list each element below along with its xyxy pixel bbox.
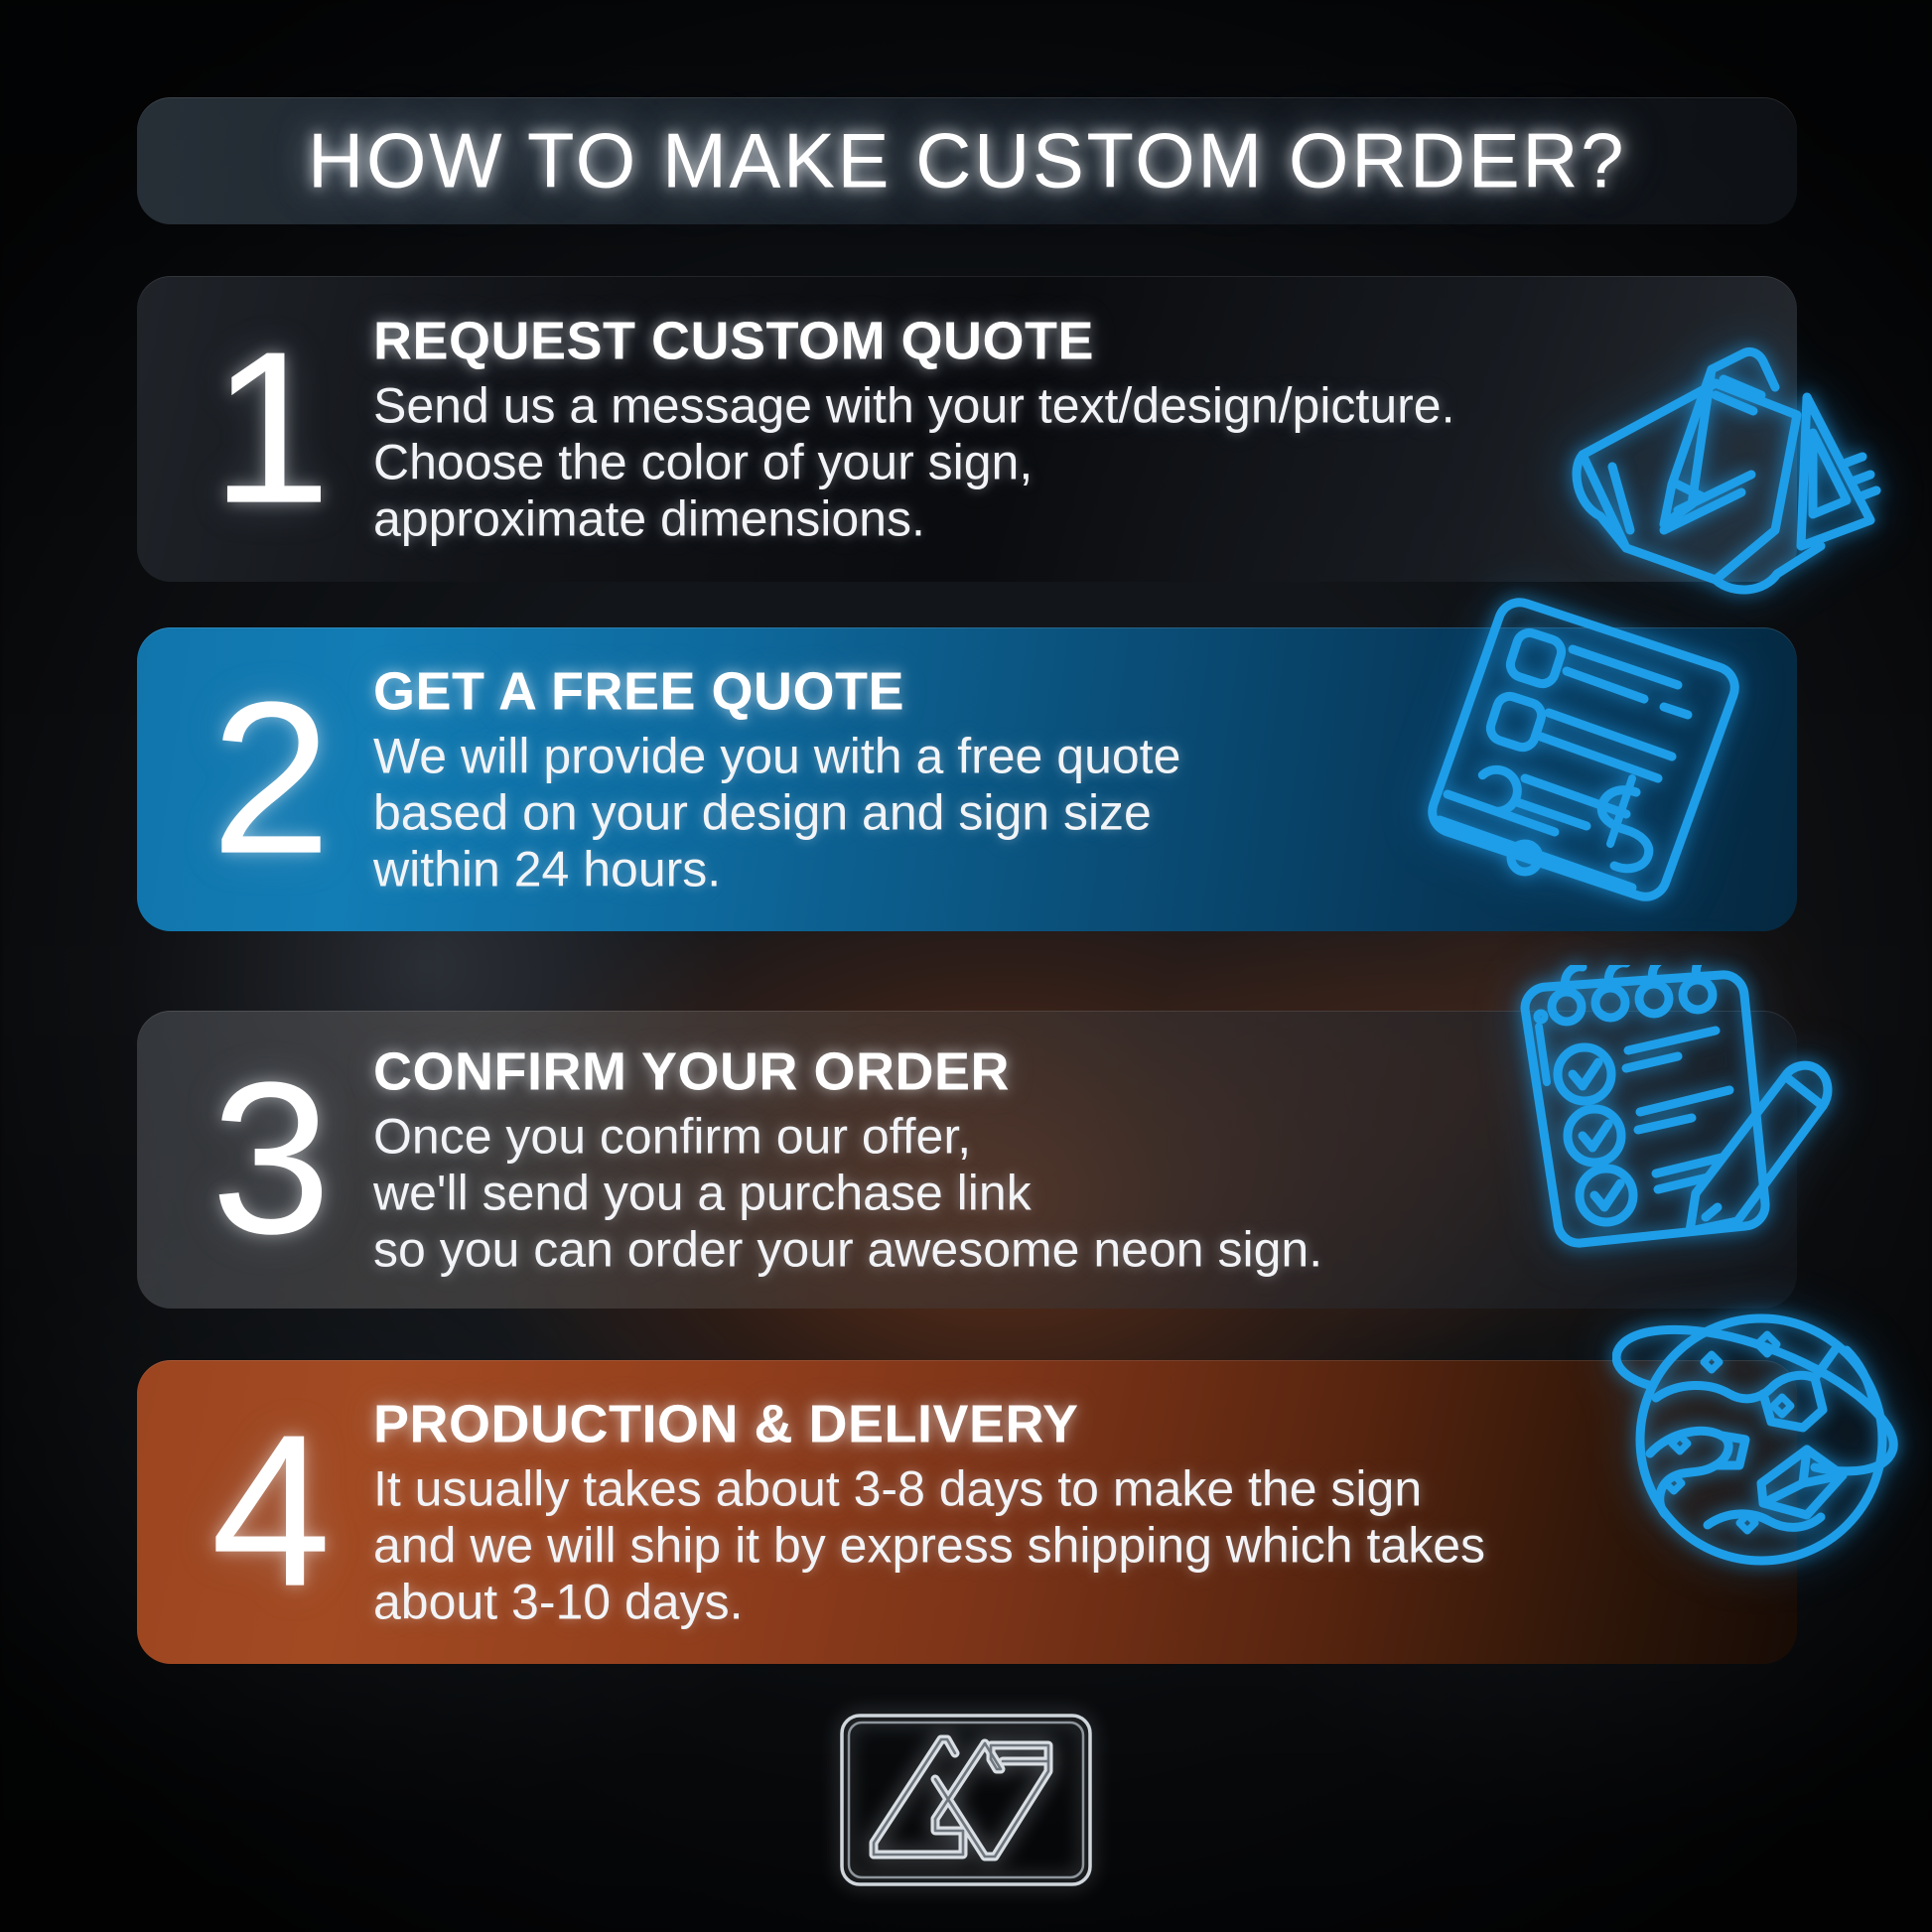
poster-canvas: HOW TO MAKE CUSTOM ORDER? 1 REQUEST CUST… [0, 0, 1932, 1932]
step-content-1: REQUEST CUSTOM QUOTE Send us a message w… [373, 311, 1727, 548]
step-1-line-1: Send us a message with your text/design/… [373, 378, 1727, 435]
step-number-2: 2 [177, 691, 365, 869]
step-description-4: It usually takes about 3-8 days to make … [373, 1461, 1727, 1631]
step-3-line-1: Once you confirm our offer, [373, 1109, 1727, 1166]
step-content-4: PRODUCTION & DELIVERY It usually takes a… [373, 1394, 1727, 1631]
step-4-line-3: about 3-10 days. [373, 1575, 1727, 1631]
step-card-1: 1 REQUEST CUSTOM QUOTE Send us a message… [137, 276, 1797, 582]
step-content-3: CONFIRM YOUR ORDER Once you confirm our … [373, 1041, 1727, 1279]
step-3-line-2: we'll send you a purchase link [373, 1166, 1727, 1222]
step-title-1: REQUEST CUSTOM QUOTE [373, 311, 1727, 372]
step-3-line-3: so you can order your awesome neon sign. [373, 1222, 1727, 1279]
step-2-line-3: within 24 hours. [373, 842, 1727, 898]
step-number-3: 3 [177, 1071, 365, 1249]
step-title-4: PRODUCTION & DELIVERY [373, 1394, 1727, 1455]
step-4-line-2: and we will ship it by express shipping … [373, 1518, 1727, 1575]
step-number-1: 1 [177, 341, 365, 518]
step-content-2: GET A FREE QUOTE We will provide you wit… [373, 661, 1727, 898]
page-title: HOW TO MAKE CUSTOM ORDER? [137, 116, 1797, 207]
step-card-4: 4 PRODUCTION & DELIVERY It usually takes… [137, 1360, 1797, 1664]
step-number-4: 4 [177, 1424, 365, 1601]
step-description-3: Once you confirm our offer, we'll send y… [373, 1109, 1727, 1279]
step-1-line-3: approximate dimensions. [373, 491, 1727, 548]
step-title-2: GET A FREE QUOTE [373, 661, 1727, 723]
header-banner: HOW TO MAKE CUSTOM ORDER? [137, 97, 1797, 224]
step-card-3: 3 CONFIRM YOUR ORDER Once you confirm ou… [137, 1011, 1797, 1309]
step-2-line-2: based on your design and sign size [373, 785, 1727, 842]
ln-neon-monogram-logo [836, 1710, 1096, 1890]
step-title-3: CONFIRM YOUR ORDER [373, 1041, 1727, 1103]
step-description-2: We will provide you with a free quote ba… [373, 729, 1727, 898]
step-card-2: 2 GET A FREE QUOTE We will provide you w… [137, 627, 1797, 931]
step-description-1: Send us a message with your text/design/… [373, 378, 1727, 548]
step-1-line-2: Choose the color of your sign, [373, 435, 1727, 491]
step-4-line-1: It usually takes about 3-8 days to make … [373, 1461, 1727, 1518]
step-2-line-1: We will provide you with a free quote [373, 729, 1727, 785]
